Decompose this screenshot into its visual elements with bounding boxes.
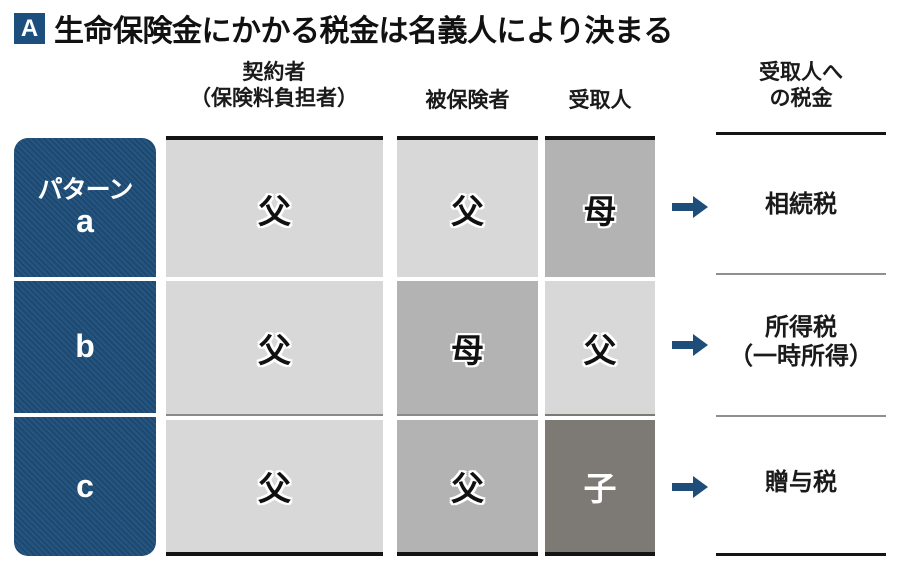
tax-rule-top: [716, 132, 886, 135]
page-title: 生命保険金にかかる税金は名義人により決まる: [54, 6, 673, 50]
cell-b-beneficiary-value: 父: [584, 324, 617, 372]
column-header-insured-label: 被保険者: [426, 89, 510, 112]
arrow-right-icon-c: [672, 476, 708, 498]
section-badge-a: A: [14, 13, 45, 44]
column-header-contractor-line2: （保険料負担者）: [166, 86, 382, 112]
cell-c-insured-value: 父: [451, 462, 484, 510]
cell-a-insured: 父: [397, 136, 538, 277]
tax-cell-c-line1: 贈与税: [765, 469, 837, 496]
column-header-beneficiary-label: 受取人: [569, 89, 632, 112]
pattern-label-b: b: [14, 281, 156, 413]
arrow-right-icon-a: [672, 196, 708, 218]
pattern-label-word: パターン: [38, 176, 133, 204]
tax-cell-b-line1: 所得税: [765, 314, 837, 341]
cell-b-contractor-value: 父: [258, 324, 291, 372]
pattern-label-letter-c: c: [76, 469, 94, 505]
tax-rule-b-c: [716, 415, 886, 417]
page-title-row: A 生命保険金にかかる税金は名義人により決まる: [14, 6, 673, 50]
column-header-tax-line2: の税金: [716, 86, 886, 112]
cell-c-beneficiary: 子: [545, 420, 655, 556]
column-header-tax: 受取人へ の税金: [716, 60, 886, 111]
cell-a-contractor: 父: [166, 136, 383, 277]
cell-c-beneficiary-value: 子: [584, 462, 617, 510]
column-header-tax-line1: 受取人へ: [759, 61, 843, 84]
arrow-right-icon-b: [672, 334, 708, 356]
cell-b-beneficiary: 父: [545, 281, 655, 416]
pattern-label-letter-b: b: [75, 329, 95, 365]
tax-cell-c: 贈与税: [716, 468, 886, 497]
tax-rule-bottom: [716, 553, 886, 556]
cell-b-contractor: 父: [166, 281, 383, 416]
column-header-beneficiary: 受取人: [545, 88, 655, 114]
cell-b-insured: 母: [397, 281, 538, 416]
cell-a-insured-value: 父: [451, 185, 484, 233]
pattern-label-a: パターン a: [14, 138, 156, 277]
tax-cell-b-line2: （一時所得）: [716, 342, 886, 371]
tax-cell-a-line1: 相続税: [765, 191, 837, 218]
cell-a-beneficiary-value: 母: [584, 185, 617, 233]
column-header-insured: 被保険者: [397, 88, 538, 114]
pattern-label-c: c: [14, 417, 156, 556]
column-header-contractor-line1: 契約者: [243, 61, 306, 84]
tax-cell-b: 所得税 （一時所得）: [716, 313, 886, 372]
cell-c-contractor-value: 父: [258, 462, 291, 510]
cell-c-contractor: 父: [166, 420, 383, 556]
cell-a-beneficiary: 母: [545, 136, 655, 277]
cell-c-insured: 父: [397, 420, 538, 556]
cell-b-insured-value: 母: [451, 324, 484, 372]
tax-rule-a-b: [716, 273, 886, 275]
cell-a-contractor-value: 父: [258, 185, 291, 233]
tax-cell-a: 相続税: [716, 190, 886, 219]
pattern-label-letter-a: a: [76, 204, 94, 240]
column-header-contractor: 契約者 （保険料負担者）: [166, 60, 382, 111]
